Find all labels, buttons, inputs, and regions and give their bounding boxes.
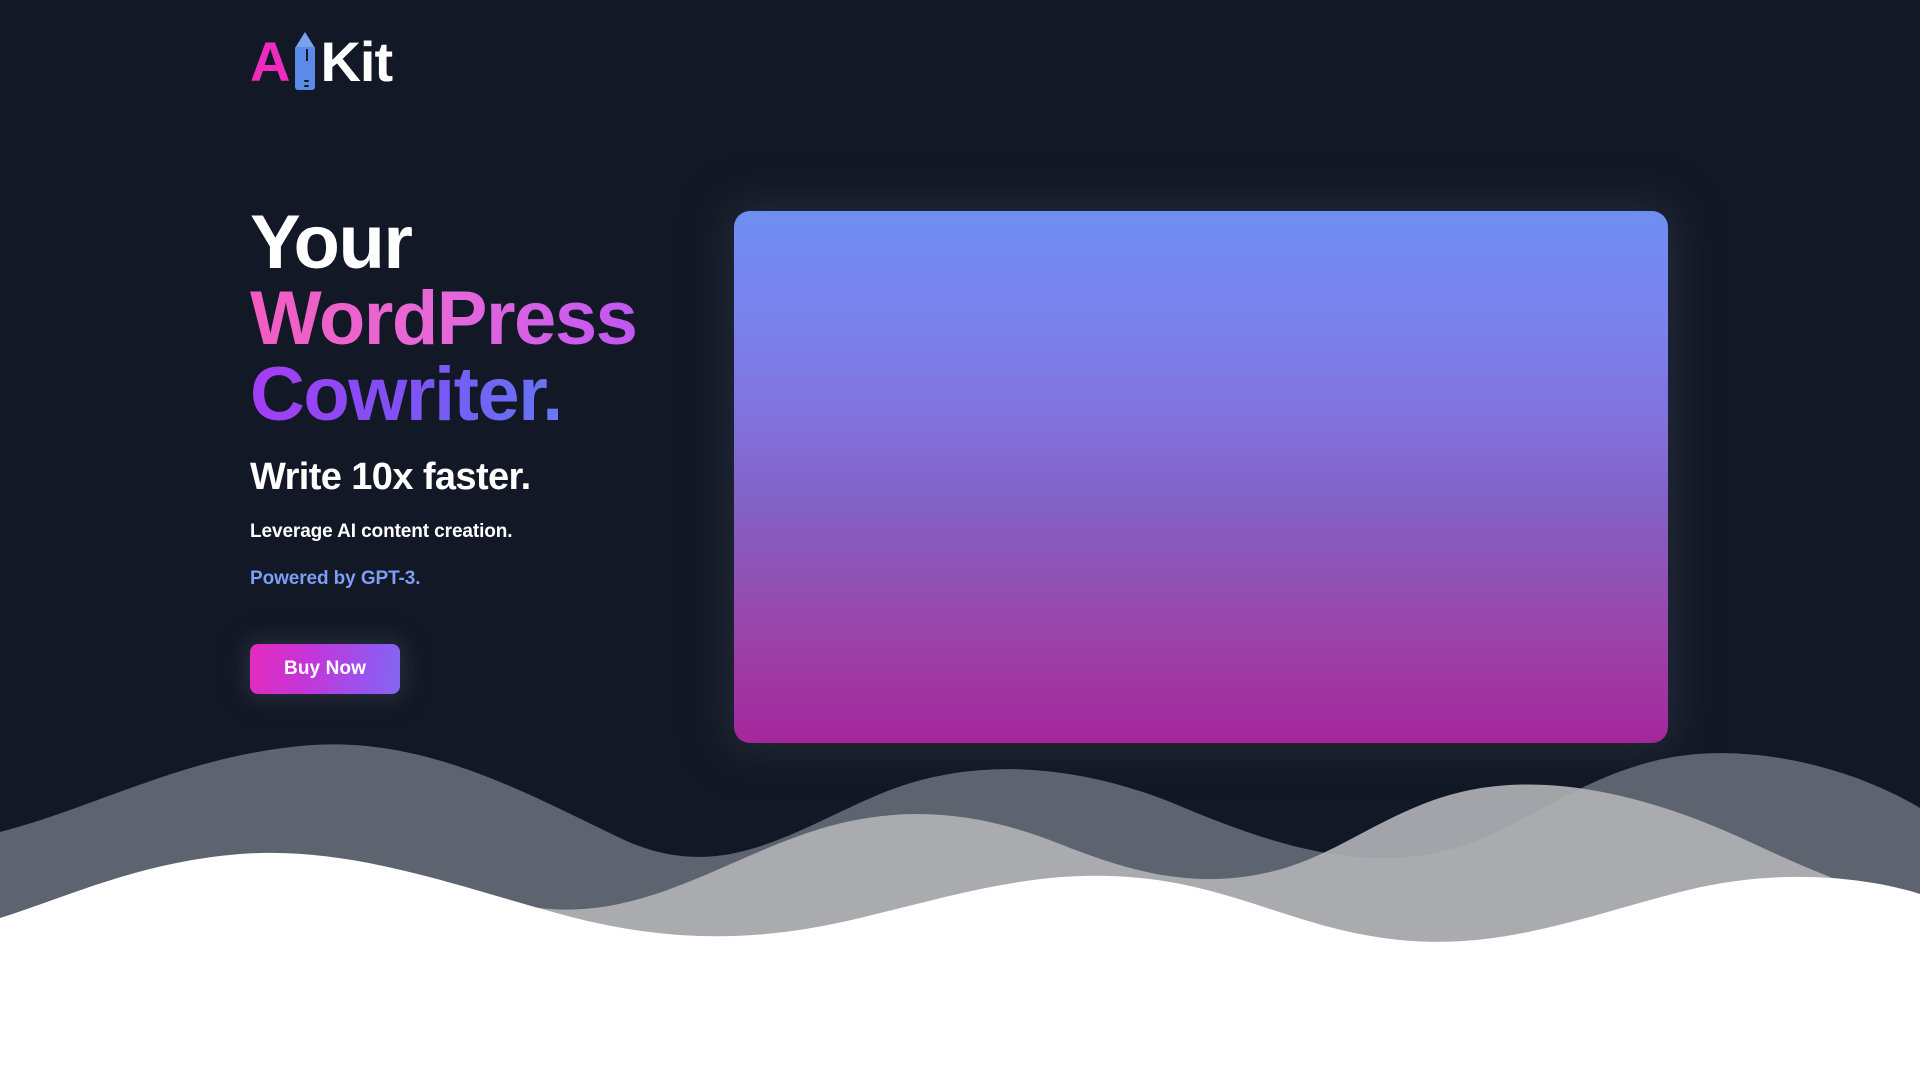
pencil-detail-2 [304, 85, 309, 87]
brand-logo-text: A Kit [250, 32, 392, 90]
headline-line-3: Cowriter. [250, 357, 750, 433]
pencil-tip-line [306, 49, 308, 61]
hero-subheadline: Write 10x faster. [250, 457, 750, 499]
buy-now-button[interactable]: Buy Now [250, 644, 400, 694]
wave-mid-layer [0, 784, 1920, 1080]
logo-word-kit: Kit [320, 34, 392, 90]
hero-subtext: Leverage AI content creation. [250, 521, 750, 543]
pencil-tip-shape [295, 32, 315, 48]
landing-page: A Kit Your WordPress Cowriter. Write 10x… [0, 0, 1920, 1080]
hero-gradient-panel [734, 211, 1668, 743]
page-title: Your WordPress Cowriter. [250, 205, 750, 433]
headline-line-2: WordPress [250, 281, 750, 357]
pencil-icon [292, 32, 318, 90]
wave-dark-layer [0, 744, 1920, 1080]
hero-content: Your WordPress Cowriter. Write 10x faste… [250, 205, 750, 694]
headline-line-1: Your [250, 205, 750, 281]
pencil-body-shape [295, 47, 315, 90]
logo-letter-a: A [250, 34, 289, 90]
brand-logo[interactable]: A Kit [250, 30, 392, 92]
pencil-detail-1 [304, 80, 309, 82]
wave-light-layer [0, 853, 1920, 1080]
powered-by-label: Powered by GPT-3. [250, 568, 750, 590]
